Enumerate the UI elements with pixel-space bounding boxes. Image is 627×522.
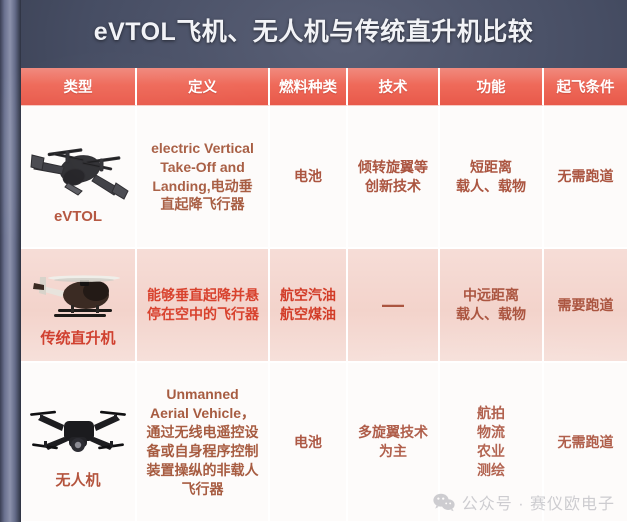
cell-technology-drone: 多旋翼技术 为主 (348, 363, 440, 522)
cell-takeoff-drone: 无需跑道 (544, 363, 627, 522)
fuel-line: 航空煤油 (273, 305, 343, 324)
technology-line: — (351, 290, 435, 320)
definition-line: 能够垂直起降并悬 (141, 286, 265, 305)
page-title: eVTOL飞机、无人机与传统直升机比较 (0, 12, 627, 48)
table-header-row: 类型 定义 燃料种类 技术 功能 起飞条件 (21, 68, 627, 106)
column-header-type: 类型 (21, 68, 137, 106)
cell-function-helicopter: 中远距离 载人、载物 (440, 249, 544, 363)
comparison-table: 类型 定义 燃料种类 技术 功能 起飞条件 (21, 68, 627, 522)
cell-function-drone: 航拍 物流 农业 测绘 (440, 363, 544, 522)
cell-fuel-evtol: 电池 (270, 106, 348, 249)
function-line: 物流 (443, 423, 539, 442)
table-row-helicopter: 传统直升机 能够垂直起降并悬 停在空中的飞行器 航空汽油 航空煤油 — 中远距离… (21, 249, 627, 363)
definition-line: 飞行器 (140, 480, 265, 499)
column-header-definition: 定义 (137, 68, 270, 106)
cell-type-evtol: eVTOL (21, 106, 137, 249)
slide-screen: eVTOL飞机、无人机与传统直升机比较 类型 定义 燃料种类 技术 功能 起飞条… (0, 0, 627, 522)
cell-takeoff-evtol: 无需跑道 (544, 106, 627, 249)
technology-line: 多旋翼技术 (351, 423, 435, 442)
cell-definition-drone: Unmanned Aerial Vehicle， 通过无线电遥控设 备或自身程序… (137, 363, 270, 522)
type-label-helicopter: 传统直升机 (40, 329, 115, 349)
cell-definition-helicopter: 能够垂直起降并悬 停在空中的飞行器 (137, 249, 270, 363)
technology-line: 为主 (351, 442, 435, 461)
cell-technology-evtol: 倾转旋翼等 创新技术 (348, 106, 440, 249)
definition-line: 备或自身程序控制 (140, 442, 265, 461)
cell-function-evtol: 短距离 载人、载物 (440, 106, 544, 249)
definition-line: 直起降飞行器 (140, 195, 265, 214)
definition-line: 停在空中的飞行器 (141, 305, 265, 324)
cell-type-drone: 无人机 (21, 363, 137, 522)
function-line: 测绘 (443, 461, 539, 480)
fuel-line: 电池 (273, 433, 343, 452)
technology-line: 创新技术 (351, 177, 435, 196)
column-header-function: 功能 (440, 68, 544, 106)
function-line: 航拍 (443, 404, 539, 423)
definition-line: 装置操纵的非载人 (140, 461, 265, 480)
evtol-aircraft-photo (24, 125, 132, 203)
cell-takeoff-helicopter: 需要跑道 (544, 249, 627, 363)
function-line: 载人、载物 (443, 305, 539, 324)
function-line: 短距离 (443, 158, 539, 177)
function-line: 农业 (443, 442, 539, 461)
cell-technology-helicopter: — (348, 249, 440, 363)
left-edge-highlight-strip (0, 0, 21, 522)
table-row-drone: 无人机 Unmanned Aerial Vehicle， 通过无线电遥控设 备或… (21, 363, 627, 522)
definition-line: Unmanned (140, 385, 265, 404)
cell-fuel-drone: 电池 (270, 363, 348, 522)
cell-definition-evtol: electric Vertical Take-Off and Landing,电… (137, 106, 270, 249)
definition-line: Take-Off and (140, 158, 265, 177)
column-header-fuel: 燃料种类 (270, 68, 348, 106)
takeoff-line: 无需跑道 (547, 167, 624, 186)
fuel-line: 航空汽油 (273, 286, 343, 305)
technology-line: 倾转旋翼等 (351, 158, 435, 177)
column-header-takeoff-condition: 起飞条件 (544, 68, 627, 106)
definition-line: Landing,电动垂 (140, 177, 265, 196)
quadcopter-drone-photo (24, 393, 132, 467)
type-label-drone: 无人机 (55, 471, 100, 491)
function-line: 中远距离 (443, 286, 539, 305)
takeoff-line: 无需跑道 (547, 433, 624, 452)
definition-line: Aerial Vehicle， (140, 404, 265, 423)
type-label-evtol: eVTOL (54, 207, 102, 227)
fuel-line: 电池 (273, 167, 343, 186)
cell-type-helicopter: 传统直升机 (21, 249, 137, 363)
takeoff-line: 需要跑道 (547, 296, 624, 315)
column-header-technology: 技术 (348, 68, 440, 106)
cell-fuel-helicopter: 航空汽油 航空煤油 (270, 249, 348, 363)
definition-line: electric Vertical (140, 139, 265, 158)
function-line: 载人、载物 (443, 177, 539, 196)
table-row-evtol: eVTOL electric Vertical Take-Off and Lan… (21, 106, 627, 249)
definition-line: 通过无线电遥控设 (140, 423, 265, 442)
traditional-helicopter-photo (24, 261, 132, 325)
